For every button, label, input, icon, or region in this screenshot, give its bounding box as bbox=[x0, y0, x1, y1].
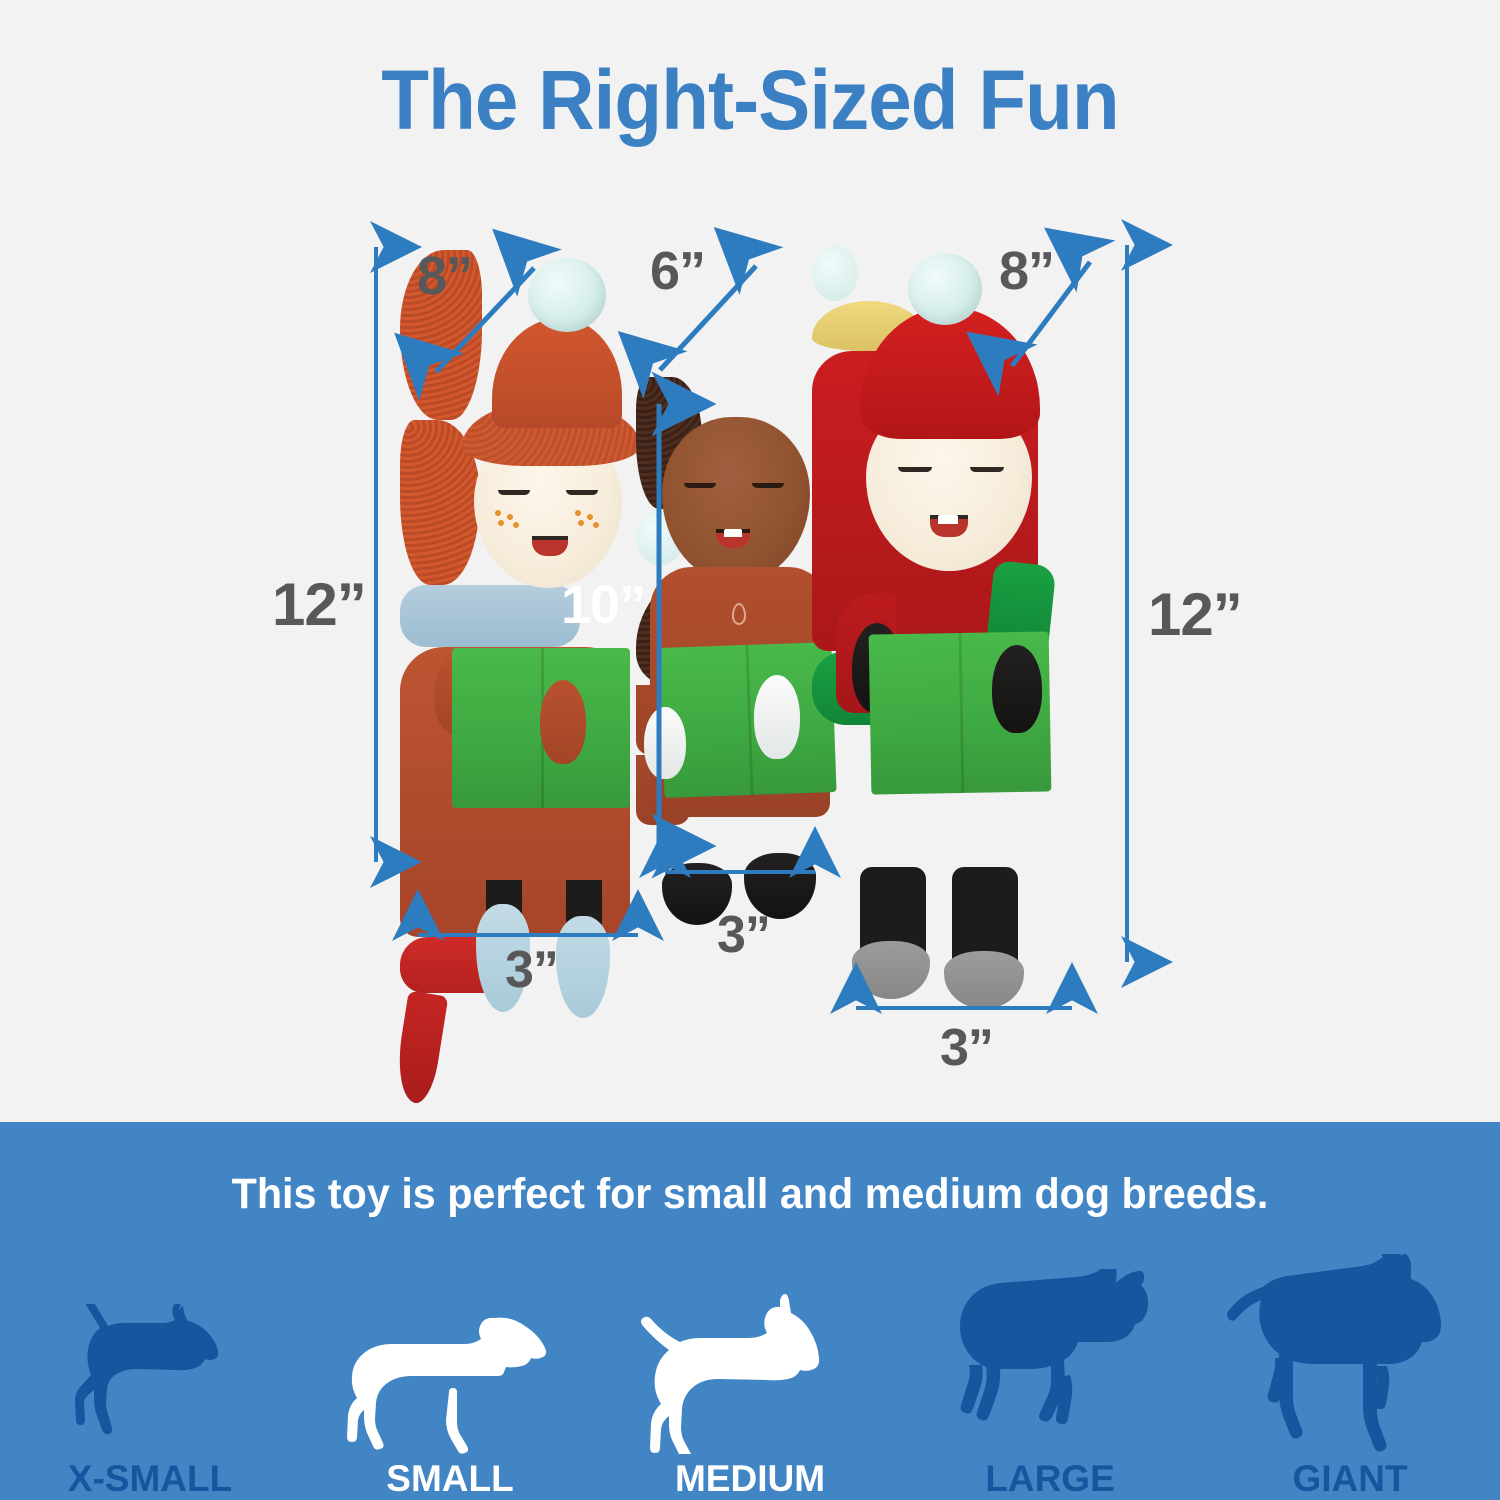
size-label-large: LARGE bbox=[985, 1458, 1115, 1500]
doll-middle-button bbox=[732, 603, 746, 625]
product-photo bbox=[390, 235, 1120, 995]
doll-right-tooth bbox=[938, 515, 958, 524]
dim-label-right-width: 3” bbox=[940, 1018, 993, 1078]
doll-left-hat bbox=[492, 318, 622, 428]
dog-size-banner: This toy is perfect for small and medium… bbox=[0, 1122, 1500, 1500]
doll-right-earmuff bbox=[812, 245, 858, 301]
dachshund-icon bbox=[345, 1304, 555, 1454]
size-label-giant: GIANT bbox=[1292, 1458, 1407, 1500]
doll-right-boot-right bbox=[944, 951, 1024, 1009]
doll-middle-songbook bbox=[659, 642, 836, 798]
dim-label-right-height: 12” bbox=[1148, 580, 1242, 649]
doll-right-eye-left bbox=[898, 467, 932, 472]
size-option-small[interactable]: SMALL bbox=[300, 1250, 600, 1500]
doll-left-mitten-right bbox=[540, 680, 586, 764]
dim-label-middle-height: 10” bbox=[561, 574, 645, 636]
doll-right-mitten-right bbox=[992, 645, 1042, 733]
dim-label-left-diagonal: 8” bbox=[417, 245, 472, 307]
doll-middle-face bbox=[662, 417, 810, 583]
bull-terrier-icon bbox=[640, 1294, 860, 1454]
size-option-x-small[interactable]: X-SMALL bbox=[0, 1250, 300, 1500]
doll-left-mouth bbox=[532, 536, 568, 556]
doll-middle-mitten-left bbox=[644, 707, 686, 779]
doll-left-pompom bbox=[528, 258, 606, 332]
doll-left-boot-right bbox=[556, 916, 610, 1018]
dim-label-middle-diagonal: 6” bbox=[650, 240, 705, 302]
doll-left-freckles-left bbox=[492, 508, 526, 530]
doll-left-freckles-right bbox=[572, 508, 606, 530]
doll-middle-tooth bbox=[724, 529, 742, 537]
size-option-medium[interactable]: MEDIUM bbox=[600, 1250, 900, 1500]
doll-middle-mitten-right bbox=[754, 675, 800, 759]
size-label-small: SMALL bbox=[386, 1458, 513, 1500]
size-option-giant[interactable]: GIANT bbox=[1200, 1250, 1500, 1500]
size-label-medium: MEDIUM bbox=[675, 1458, 825, 1500]
doll-left-scarf-tail bbox=[392, 991, 449, 1106]
doll-middle-eye-right bbox=[752, 483, 784, 488]
size-label-x-small: X-SMALL bbox=[68, 1458, 232, 1500]
golden-retriever-icon bbox=[930, 1269, 1170, 1454]
doll-left-collar bbox=[400, 585, 580, 647]
dim-label-left-height: 12” bbox=[272, 570, 366, 639]
dog-size-scale: X-SMALL SMALL MEDIUM LARGE bbox=[0, 1240, 1500, 1500]
dim-label-right-diagonal: 8” bbox=[999, 240, 1054, 302]
great-dane-icon bbox=[1225, 1254, 1475, 1454]
chihuahua-icon bbox=[55, 1304, 245, 1454]
product-dimension-panel: The Right-Sized Fun bbox=[0, 0, 1500, 1122]
dim-label-left-width: 3” bbox=[505, 940, 558, 1000]
banner-headline: This toy is perfect for small and medium… bbox=[30, 1170, 1470, 1219]
doll-right-eye-right bbox=[970, 467, 1004, 472]
size-option-large[interactable]: LARGE bbox=[900, 1250, 1200, 1500]
page-title: The Right-Sized Fun bbox=[53, 52, 1448, 149]
doll-right-pompom bbox=[908, 253, 982, 325]
dim-label-middle-width: 3” bbox=[717, 905, 770, 965]
doll-right-blonde-caroler bbox=[812, 245, 1080, 1005]
doll-left-eye-left bbox=[498, 490, 530, 495]
doll-middle-eye-left bbox=[684, 483, 716, 488]
doll-left-eye-right bbox=[566, 490, 598, 495]
doll-right-boot-left bbox=[852, 941, 930, 999]
